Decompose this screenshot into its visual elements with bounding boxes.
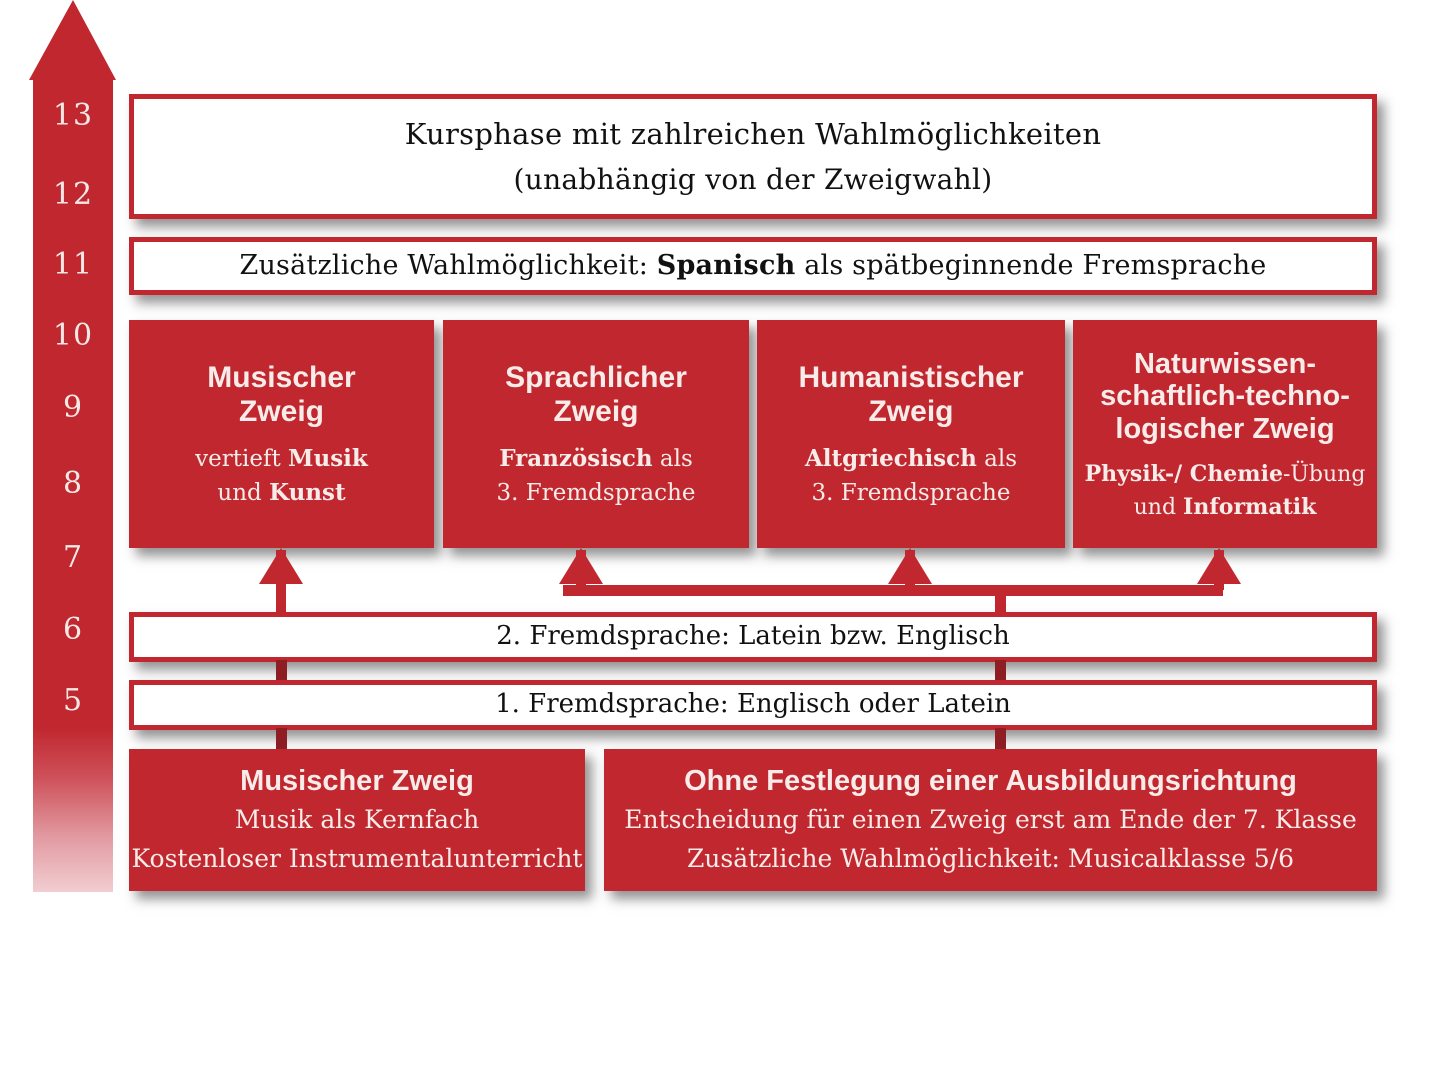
branch-sub1-prefix: vertieft [195, 446, 288, 472]
entry-subtitle-2: Zusätzliche Wahlmöglichkeit: Musicalklas… [687, 843, 1294, 875]
branch-sub2-prefix: und [217, 480, 269, 506]
branch-sub1-suffix: als [653, 446, 693, 472]
branch-box-naturwissenschaftlich-technologischer-zweig[interactable]: Naturwissen- schaftlich-techno- logische… [1073, 320, 1377, 548]
spanisch-suffix: als spätbeginnende Fremsprache [795, 250, 1266, 281]
branch-title-line-2: schaftlich-techno- [1100, 380, 1350, 412]
connector-fs2-to-fs1-left [276, 660, 287, 682]
connector-fs2-to-fs1-right [995, 660, 1006, 682]
branch-subtitle-2: 3. Fremdsprache [497, 478, 696, 508]
branch-subtitle-1: Französisch als [499, 444, 693, 474]
branch-sub1-emphasis: Altgriechisch [805, 445, 977, 472]
grade-level-arrow: 13 12 11 10 9 8 7 6 5 [29, 0, 116, 892]
entry-subtitle-1: Entscheidung für einen Zweig erst am End… [624, 804, 1357, 836]
grade-label-9: 9 [33, 393, 113, 423]
branch-title-line-2: Zweig [868, 395, 953, 429]
branch-sub1-suffix: -Übung [1283, 462, 1365, 487]
entry-box-ohne-festlegung[interactable]: Ohne Festlegung einer Ausbildungsrichtun… [604, 749, 1377, 891]
branch-subtitle-2: und Kunst [217, 478, 345, 508]
fremdsprache-1-text: 1. Fremdsprache: Englisch oder Latein [495, 688, 1011, 721]
branch-title-line-1: Naturwissen- [1134, 348, 1316, 380]
spanisch-emphasis: Spanisch [657, 250, 796, 281]
branch-sub2-prefix: und [1134, 495, 1183, 520]
kursphase-box: Kursphase mit zahlreichen Wahlmöglichkei… [129, 94, 1377, 219]
branch-sub1-emphasis: Physik-/ Chemie [1085, 461, 1283, 487]
entry-subtitle-2: Kostenloser Instrumentalunterricht [132, 843, 583, 875]
branch-title-line-1: Sprachlicher [505, 361, 687, 395]
fremdsprache-2-box: 2. Fremdsprache: Latein bzw. Englisch [129, 612, 1377, 662]
grade-label-8: 8 [33, 469, 113, 499]
branch-subtitle-1: Altgriechisch als [805, 444, 1017, 474]
spanisch-prefix: Zusätzliche Wahlmöglichkeit: [240, 250, 657, 281]
grade-label-13: 13 [33, 101, 113, 131]
branch-title-line-2: Zweig [553, 395, 638, 429]
branch-subtitle-1: Physik-/ Chemie-Übung [1085, 460, 1366, 489]
branch-sub1-emphasis: Französisch [499, 445, 652, 472]
entry-title: Ohne Festlegung einer Ausbildungsrichtun… [684, 765, 1297, 797]
arrow-to-musischer-zweig [259, 548, 303, 614]
branch-sub2-emphasis: Kunst [269, 479, 346, 506]
spanisch-text: Zusätzliche Wahlmöglichkeit: Spanisch al… [240, 249, 1267, 284]
branch-title-line-1: Humanistischer [798, 361, 1023, 395]
branch-title-line-2: Zweig [239, 395, 324, 429]
entry-box-musischer-zweig[interactable]: Musischer Zweig Musik als Kernfach Koste… [129, 749, 585, 891]
branch-subtitle-2: 3. Fremdsprache [812, 478, 1011, 508]
arrow-stem [905, 550, 915, 590]
arrow-stem [576, 550, 586, 590]
arrow-stem [1214, 550, 1224, 590]
arrow-head-icon [29, 0, 116, 80]
entry-subtitle-1: Musik als Kernfach [235, 804, 479, 836]
branch-title-line-1: Musischer [207, 361, 355, 395]
fremdsprache-1-box: 1. Fremdsprache: Englisch oder Latein [129, 680, 1377, 730]
grade-label-7: 7 [33, 543, 113, 573]
branch-subtitle-1: vertieft Musik [195, 444, 368, 474]
branch-sub1-emphasis: Musik [288, 445, 368, 472]
fremdsprache-2-text: 2. Fremdsprache: Latein bzw. Englisch [496, 620, 1009, 653]
kursphase-line-1: Kursphase mit zahlreichen Wahlmöglichkei… [405, 116, 1102, 153]
grade-label-6: 6 [33, 615, 113, 645]
branch-sub2-emphasis: Informatik [1183, 494, 1316, 520]
grade-label-12: 12 [33, 180, 113, 210]
branch-sub1-suffix: als [977, 446, 1017, 472]
branch-box-humanistischer-zweig[interactable]: Humanistischer Zweig Altgriechisch als 3… [757, 320, 1065, 548]
arrow-to-humanistischer-zweig [888, 548, 932, 590]
arrow-to-sprachlicher-zweig [559, 548, 603, 590]
branch-sub2-prefix: 3. Fremdsprache [812, 480, 1011, 506]
diagram-canvas: 13 12 11 10 9 8 7 6 5 Kursphase mit zahl… [0, 0, 1433, 1075]
grade-label-11: 11 [33, 250, 113, 280]
spanisch-option-box: Zusätzliche Wahlmöglichkeit: Spanisch al… [129, 237, 1377, 295]
branch-box-musischer-zweig[interactable]: Musischer Zweig vertieft Musik und Kunst [129, 320, 434, 548]
branch-box-sprachlicher-zweig[interactable]: Sprachlicher Zweig Französisch als 3. Fr… [443, 320, 749, 548]
grade-label-10: 10 [33, 321, 113, 351]
kursphase-line-2: (unabhängig von der Zweigwahl) [514, 162, 993, 198]
arrow-to-naturwissenschaftlicher-zweig [1197, 548, 1241, 590]
branch-subtitle-2: und Informatik [1134, 493, 1317, 522]
entry-title: Musischer Zweig [240, 765, 474, 797]
arrow-stem [276, 550, 286, 614]
grade-label-5: 5 [33, 686, 113, 716]
connector-manifold-stem [995, 585, 1006, 615]
branch-sub2-prefix: 3. Fremdsprache [497, 480, 696, 506]
branch-title-line-3: logischer Zweig [1115, 413, 1334, 445]
